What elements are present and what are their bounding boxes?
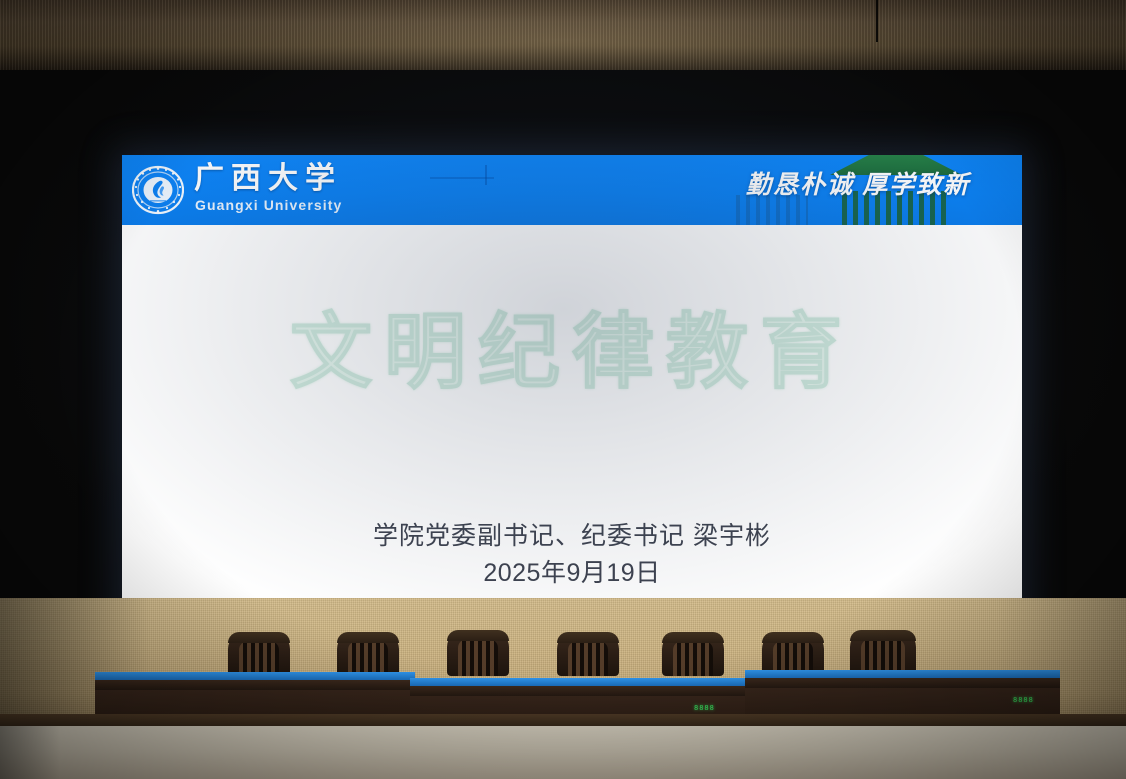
header-artifact-tick bbox=[485, 165, 487, 185]
projection-screen-frame: 广西大学 Guangxi University 勤恳朴诚 厚学致新 文明纪律教育… bbox=[0, 70, 1126, 602]
chair bbox=[447, 630, 509, 676]
university-name-en: Guangxi University bbox=[195, 197, 342, 213]
chair-top-rail bbox=[228, 632, 290, 643]
chair-top-rail bbox=[762, 632, 824, 643]
ceiling-wall bbox=[0, 0, 1126, 74]
chair-top-rail bbox=[337, 632, 399, 643]
slide-body: 文明纪律教育 学院党委副书记、纪委书记 梁宇彬 2025年9月19日 bbox=[122, 225, 1022, 617]
chair-top-rail bbox=[557, 632, 619, 643]
building-silhouette-secondary-icon bbox=[736, 195, 808, 225]
chair bbox=[557, 632, 619, 676]
slide-title: 文明纪律教育 bbox=[122, 305, 1022, 401]
floor bbox=[0, 726, 1126, 779]
presenter-line: 学院党委副书记、纪委书记 梁宇彬 bbox=[122, 520, 1022, 552]
chair bbox=[662, 632, 724, 676]
chair-slats bbox=[348, 641, 388, 676]
chair-slats bbox=[673, 641, 713, 676]
slide-header-bar: 广西大学 Guangxi University 勤恳朴诚 厚学致新 bbox=[122, 155, 1022, 225]
chair-slats bbox=[568, 641, 608, 676]
desk-led-display: 8888 bbox=[1013, 696, 1034, 704]
chair-slats bbox=[239, 641, 279, 676]
lecture-hall-scene: 广西大学 Guangxi University 勤恳朴诚 厚学致新 文明纪律教育… bbox=[0, 0, 1126, 779]
header-artifact-line bbox=[430, 177, 494, 179]
floor-shadow-left bbox=[0, 726, 60, 779]
chair bbox=[337, 632, 399, 676]
chair-top-rail bbox=[662, 632, 724, 643]
chair-top-rail bbox=[850, 630, 916, 641]
desk-led-display: 8888 bbox=[694, 704, 715, 712]
tree-canopy-icon bbox=[830, 155, 962, 175]
university-motto: 勤恳朴诚 厚学致新 bbox=[746, 171, 1008, 201]
chair bbox=[228, 632, 290, 676]
motto-graphic: 勤恳朴诚 厚学致新 bbox=[722, 155, 1022, 225]
date-line: 2025年9月19日 bbox=[122, 557, 1022, 589]
university-name-cn: 广西大学 bbox=[194, 163, 342, 195]
presentation-slide: 广西大学 Guangxi University 勤恳朴诚 厚学致新 文明纪律教育… bbox=[122, 155, 1022, 648]
chair-slats bbox=[458, 639, 498, 676]
building-silhouette-icon bbox=[842, 191, 948, 225]
chair-top-rail bbox=[447, 630, 509, 641]
university-seal-icon bbox=[132, 164, 184, 216]
ceiling-seam bbox=[876, 0, 878, 42]
